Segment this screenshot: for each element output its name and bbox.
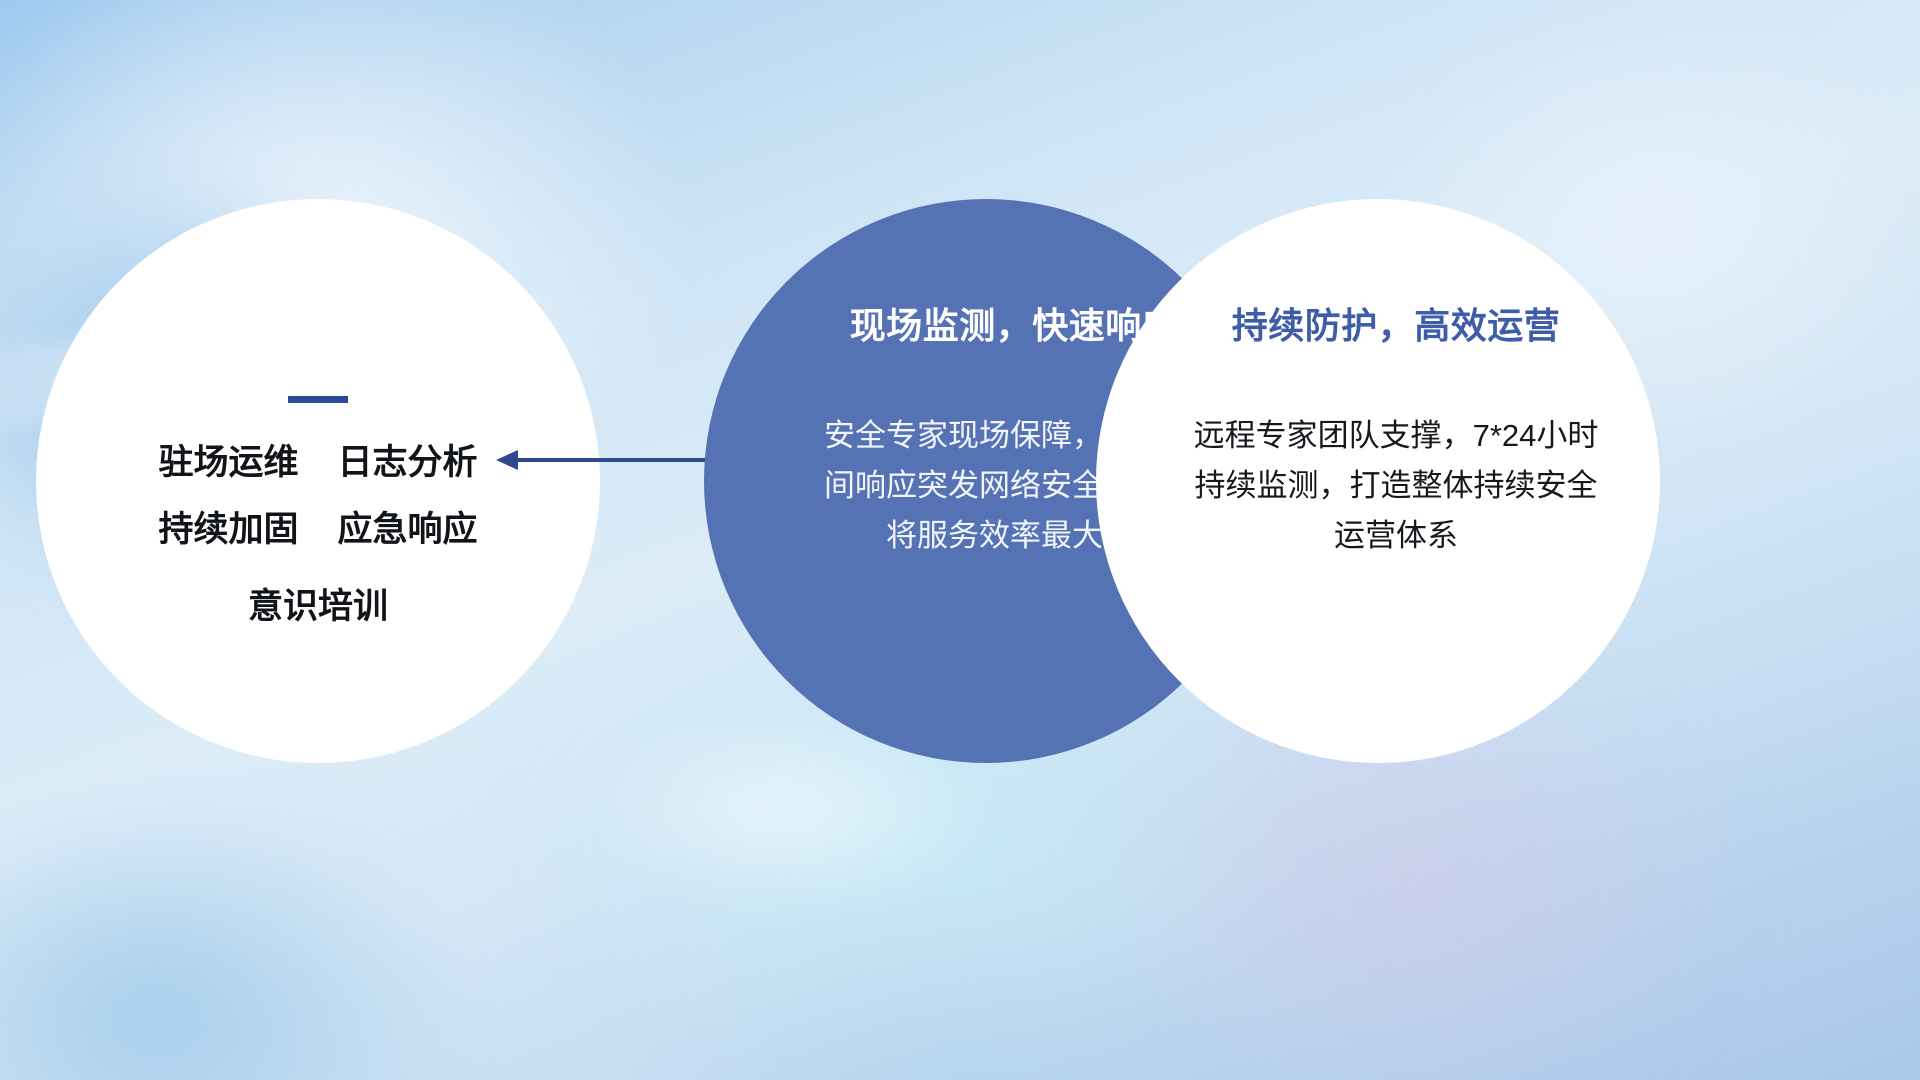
- capability-line-2: 持续加固 应急响应: [159, 512, 478, 547]
- title-divider-dash: [288, 396, 348, 403]
- left-arrow-icon: [492, 420, 732, 500]
- right-circle-body: 远程专家团队支撑，7*24小时持续监测，打造整体持续安全运营体系: [1181, 411, 1611, 562]
- three-circle-diagram: 驻场运维 日志分析 持续加固 应急响应 意识培训 现场监测，快速响应 安全专家现…: [0, 0, 1920, 1080]
- right-circle-title: 持续防护，高效运营: [1232, 297, 1561, 349]
- capability-line-3: 意识培训: [159, 589, 478, 624]
- capability-list: 驻场运维 日志分析 持续加固 应急响应 意识培训: [159, 445, 478, 624]
- capability-line-1: 驻场运维 日志分析: [159, 445, 478, 480]
- middle-circle-title: 现场监测，快速响应: [850, 297, 1179, 349]
- capability-circle-right[interactable]: 持续防护，高效运营 远程专家团队支撑，7*24小时持续监测，打造整体持续安全运营…: [1096, 199, 1660, 763]
